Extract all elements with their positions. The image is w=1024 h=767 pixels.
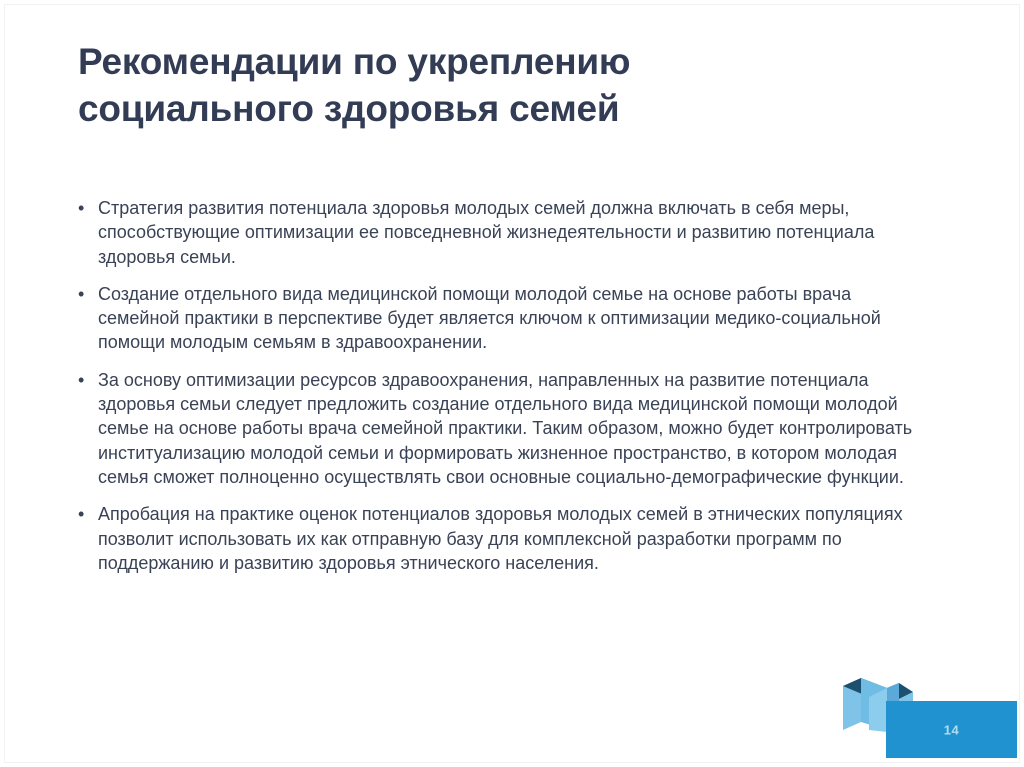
footer-graphic: 14: [841, 672, 1017, 760]
title-block: Рекомендации по укреплению социального з…: [78, 38, 878, 132]
list-item: • За основу оптимизации ресурсов здравоо…: [74, 368, 926, 489]
list-item-text: Стратегия развития потенциала здоровья м…: [98, 196, 926, 269]
bullet-dot-icon: •: [78, 196, 92, 220]
page-number-badge: 14: [886, 701, 1017, 758]
list-item: • Апробация на практике оценок потенциал…: [74, 502, 926, 575]
list-item: • Стратегия развития потенциала здоровья…: [74, 196, 926, 269]
list-item: • Создание отдельного вида медицинской п…: [74, 282, 926, 355]
list-item-text: За основу оптимизации ресурсов здравоохр…: [98, 368, 926, 489]
page-title: Рекомендации по укреплению социального з…: [78, 38, 878, 132]
slide-canvas: Рекомендации по укреплению социального з…: [0, 0, 1024, 767]
bullet-dot-icon: •: [78, 282, 92, 306]
bullet-dot-icon: •: [78, 368, 92, 392]
list-item-text: Создание отдельного вида медицинской пом…: [98, 282, 926, 355]
bullet-list: • Стратегия развития потенциала здоровья…: [74, 196, 926, 575]
list-item-text: Апробация на практике оценок потенциалов…: [98, 502, 926, 575]
bullet-dot-icon: •: [78, 502, 92, 526]
body-content: • Стратегия развития потенциала здоровья…: [74, 196, 926, 575]
page-number: 14: [886, 722, 1017, 737]
